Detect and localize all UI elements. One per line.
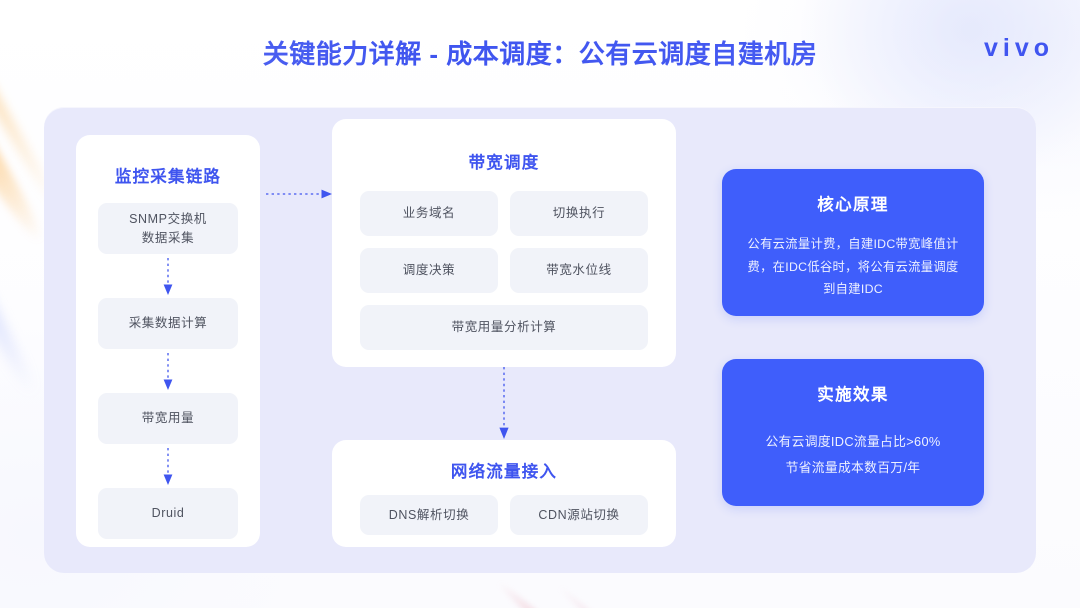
card-core-principle-title: 核心原理 <box>722 191 984 215</box>
card-core-principle-body: 公有云流量计费，自建IDC带宽峰值计费，在IDC低谷时，将公有云流量调度到自建I… <box>744 233 962 301</box>
chain-step-snmp-label: SNMP交换机数据采集 <box>129 210 207 246</box>
chain-step-bandwidth-usage-label: 带宽用量 <box>142 409 194 427</box>
panel-bandwidth-scheduling: 带宽调度 业务域名 切换执行 调度决策 带宽水位线 带宽用量分析计算 <box>332 119 676 367</box>
chain-step-druid-label: Druid <box>152 504 185 522</box>
chip-switch-execution: 切换执行 <box>510 191 648 236</box>
chip-bandwidth-usage-analysis: 带宽用量分析计算 <box>360 305 648 350</box>
network-chip-row: DNS解析切换 CDN源站切换 <box>360 495 648 535</box>
panel-monitoring-chain: 监控采集链路 SNMP交换机数据采集 采集数据计算 <box>76 135 260 547</box>
slide-canvas: 关键能力详解 - 成本调度：公有云调度自建机房 vivo 监控采集链路 SNMP… <box>0 0 1080 608</box>
card-implementation-effect: 实施效果 公有云调度IDC流量占比>60%节省流量成本数百万/年 <box>722 359 984 506</box>
monitoring-chain-steps: SNMP交换机数据采集 采集数据计算 <box>98 203 238 539</box>
card-implementation-effect-title: 实施效果 <box>722 381 984 405</box>
connector-bandwidth-to-network <box>489 365 519 443</box>
panel-network-traffic-access: 网络流量接入 DNS解析切换 CDN源站切换 <box>332 440 676 547</box>
chip-dns-resolution-switch: DNS解析切换 <box>360 495 498 535</box>
chain-step-snmp: SNMP交换机数据采集 <box>98 203 238 254</box>
chip-business-domain: 业务域名 <box>360 191 498 236</box>
chain-step-druid: Druid <box>98 488 238 539</box>
connector-monitoring-to-bandwidth <box>264 185 336 203</box>
chain-arrow-3 <box>98 444 238 488</box>
panel-monitoring-chain-title: 监控采集链路 <box>76 163 260 187</box>
chain-step-compute-label: 采集数据计算 <box>129 314 208 332</box>
page-title: 关键能力详解 - 成本调度：公有云调度自建机房 <box>0 34 1080 71</box>
chain-arrow-2 <box>98 349 238 393</box>
chain-arrow-1 <box>98 254 238 298</box>
chain-step-compute: 采集数据计算 <box>98 298 238 349</box>
panel-network-traffic-access-title: 网络流量接入 <box>332 458 676 482</box>
chain-step-bandwidth-usage: 带宽用量 <box>98 393 238 444</box>
background-streak-pink-1 <box>495 578 635 608</box>
chip-cdn-origin-switch: CDN源站切换 <box>510 495 648 535</box>
background-streak-pink-2 <box>556 584 649 608</box>
diagram-board: 监控采集链路 SNMP交换机数据采集 采集数据计算 <box>44 107 1036 573</box>
background-streak-blue <box>0 180 41 399</box>
card-core-principle: 核心原理 公有云流量计费，自建IDC带宽峰值计费，在IDC低谷时，将公有云流量调… <box>722 169 984 316</box>
slide-header: 关键能力详解 - 成本调度：公有云调度自建机房 vivo <box>0 0 1080 96</box>
panel-bandwidth-scheduling-title: 带宽调度 <box>332 149 676 173</box>
card-implementation-effect-body: 公有云调度IDC流量占比>60%节省流量成本数百万/年 <box>744 429 962 481</box>
bandwidth-chip-grid: 业务域名 切换执行 调度决策 带宽水位线 带宽用量分析计算 <box>360 191 648 350</box>
vivo-logo: vivo <box>984 36 1054 61</box>
chip-scheduling-decision: 调度决策 <box>360 248 498 293</box>
chip-bandwidth-waterline: 带宽水位线 <box>510 248 648 293</box>
